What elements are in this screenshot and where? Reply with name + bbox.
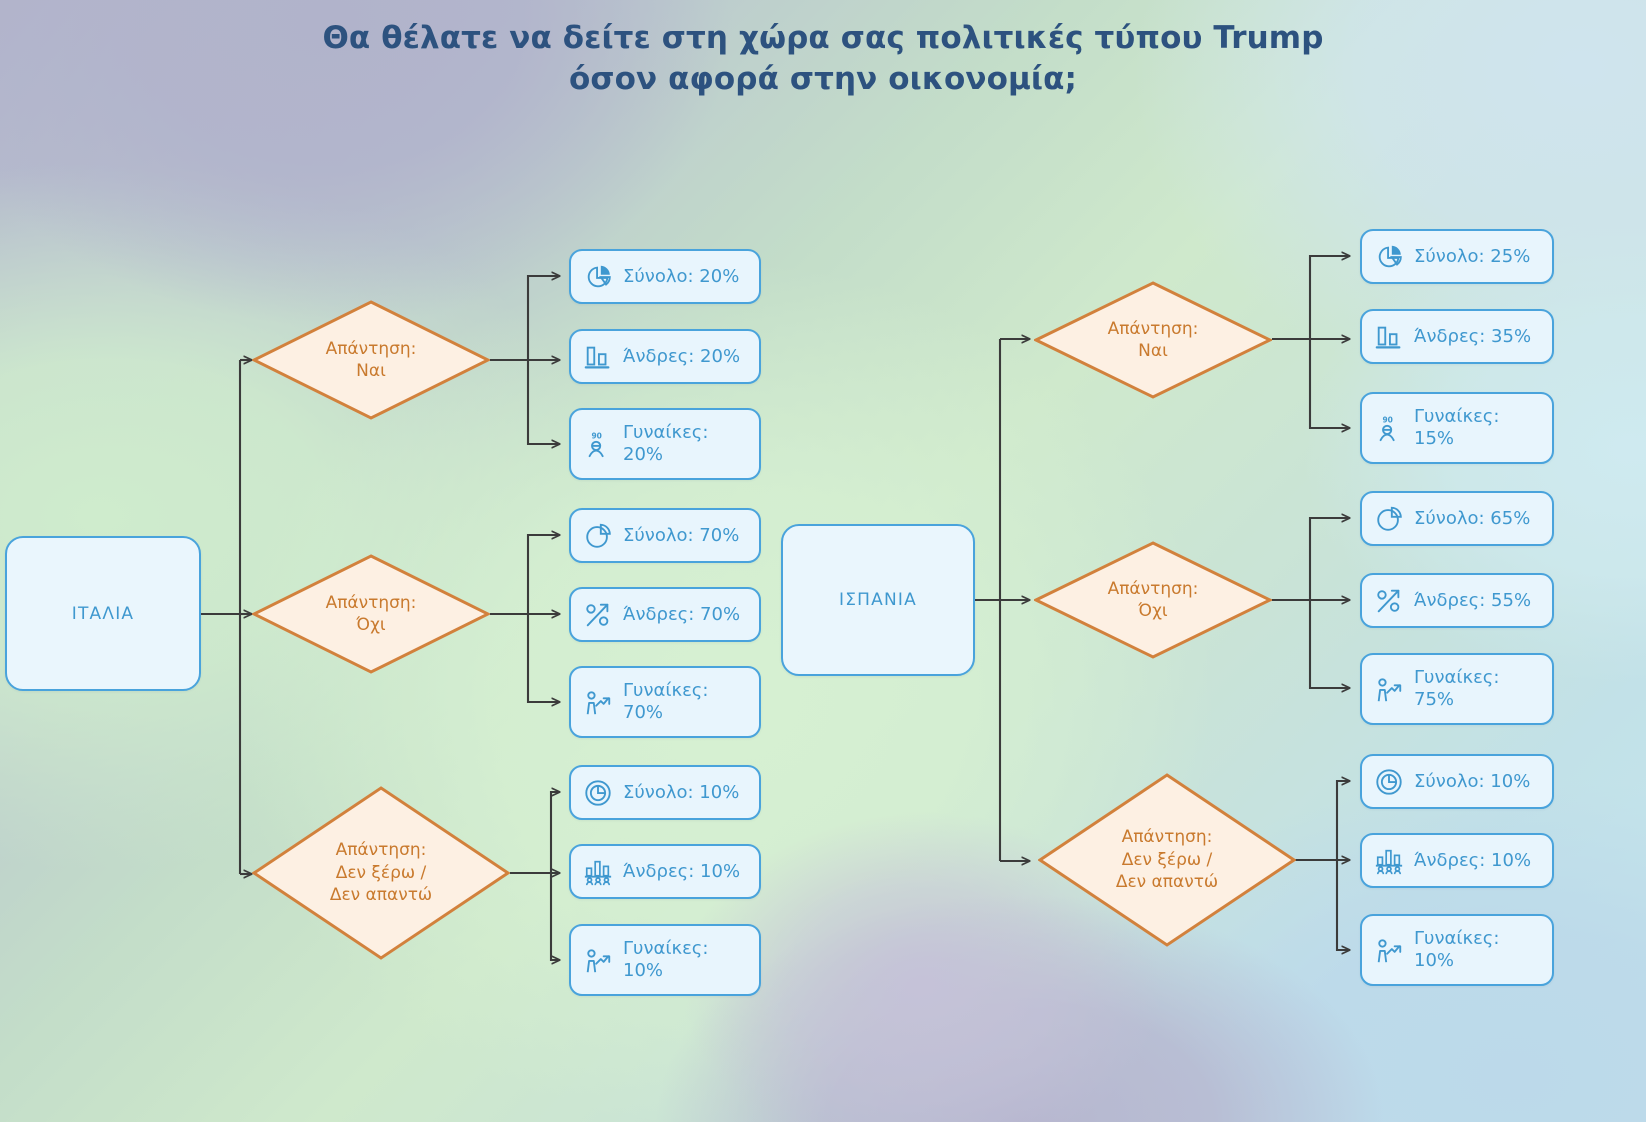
stat-label: Άνδρες: 10% [623,861,747,883]
stat-box-spain-dontknow-total[interactable]: Σύνολο: 10% [1360,754,1554,809]
decision-node-italy-yes[interactable]: Απάντηση: Ναι [252,300,490,420]
stat-label: Άνδρες: 35% [1414,326,1540,348]
decision-label: Απάντηση: Όχι [326,592,417,637]
decision-node-spain-yes[interactable]: Απάντηση: Ναι [1034,281,1272,399]
stat-label: Σύνολο: 65% [1414,508,1540,530]
pie-chart-icon [583,262,613,292]
decision-node-italy-no[interactable]: Απάντηση: Όχι [252,554,490,674]
pie-chart-icon [1374,242,1404,272]
woman-survey-icon: 90 [583,429,613,459]
person-trend-icon [1374,935,1404,965]
stat-box-spain-dontknow-women[interactable]: Γυναίκες: 10% [1360,914,1554,986]
decision-node-italy-dontknow[interactable]: Απάντηση: Δεν ξέρω / Δεν απαντώ [252,786,510,960]
stat-label: Σύνολο: 10% [623,782,747,804]
stat-label: Σύνολο: 25% [1414,246,1540,268]
stat-box-spain-yes-total[interactable]: Σύνολο: 25% [1360,229,1554,284]
percent-trend-icon [1374,586,1404,616]
stat-label: Άνδρες: 20% [623,346,747,368]
country-node-italy[interactable]: ΙΤΑΛΙΑ [5,536,201,691]
stat-box-spain-no-women[interactable]: Γυναίκες: 75% [1360,653,1554,725]
population-chart-icon [1374,846,1404,876]
stat-box-spain-no-men[interactable]: Άνδρες: 55% [1360,573,1554,628]
decision-label: Απάντηση: Δεν ξέρω / Δεν απαντώ [1116,826,1218,893]
population-chart-icon [583,857,613,887]
stat-label: Σύνολο: 20% [623,266,747,288]
svg-text:90: 90 [591,431,601,440]
stat-label: Γυναίκες: 75% [1414,667,1540,711]
stat-box-spain-no-total[interactable]: Σύνολο: 65% [1360,491,1554,546]
stat-box-spain-yes-women[interactable]: 90 Γυναίκες: 15% [1360,392,1554,464]
diagram-canvas: Θα θέλατε να δείτε στη χώρα σας πολιτικέ… [0,0,1646,1122]
stat-box-italy-yes-men[interactable]: Άνδρες: 20% [569,329,761,384]
pie-slice-icon [1374,504,1404,534]
stat-label: Γυναίκες: 20% [623,422,747,466]
decision-label: Απάντηση: Όχι [1108,578,1199,623]
stat-box-italy-yes-total[interactable]: Σύνολο: 20% [569,249,761,304]
woman-survey-icon: 90 [1374,413,1404,443]
stat-box-italy-no-total[interactable]: Σύνολο: 70% [569,508,761,563]
svg-text:90: 90 [1382,415,1392,424]
decision-label: Απάντηση: Ναι [326,338,417,383]
stat-box-italy-no-women[interactable]: Γυναίκες: 70% [569,666,761,738]
pie-slice-icon [583,521,613,551]
pie-circle-icon [1374,767,1404,797]
person-trend-icon [583,945,613,975]
country-label-italy: ΙΤΑΛΙΑ [72,604,135,624]
stat-label: Γυναίκες: 10% [1414,928,1540,972]
stat-box-spain-yes-men[interactable]: Άνδρες: 35% [1360,309,1554,364]
decision-label: Απάντηση: Δεν ξέρω / Δεν απαντώ [330,839,432,906]
person-trend-icon [1374,674,1404,704]
decision-node-spain-dontknow[interactable]: Απάντηση: Δεν ξέρω / Δεν απαντώ [1038,773,1296,947]
stat-box-italy-dontknow-total[interactable]: Σύνολο: 10% [569,765,761,820]
percent-trend-icon [583,600,613,630]
stat-label: Σύνολο: 10% [1414,771,1540,793]
decision-label: Απάντηση: Ναι [1108,318,1199,363]
person-trend-icon [583,687,613,717]
pie-circle-icon [583,778,613,808]
stat-box-italy-yes-women[interactable]: 90 Γυναίκες: 20% [569,408,761,480]
stat-label: Γυναίκες: 10% [623,938,747,982]
country-label-spain: ΙΣΠΑΝΙΑ [839,590,917,610]
country-node-spain[interactable]: ΙΣΠΑΝΙΑ [781,524,975,676]
decision-node-spain-no[interactable]: Απάντηση: Όχι [1034,541,1272,659]
bar-chart-icon [1374,322,1404,352]
stat-label: Σύνολο: 70% [623,525,747,547]
stat-box-italy-no-men[interactable]: Άνδρες: 70% [569,587,761,642]
stat-box-italy-dontknow-women[interactable]: Γυναίκες: 10% [569,924,761,996]
stat-label: Άνδρες: 70% [623,604,747,626]
bar-chart-icon [583,342,613,372]
stat-label: Γυναίκες: 15% [1414,406,1540,450]
stat-label: Άνδρες: 55% [1414,590,1540,612]
stat-box-spain-dontknow-men[interactable]: Άνδρες: 10% [1360,833,1554,888]
stat-label: Γυναίκες: 70% [623,680,747,724]
stat-label: Άνδρες: 10% [1414,850,1540,872]
stat-box-italy-dontknow-men[interactable]: Άνδρες: 10% [569,844,761,899]
